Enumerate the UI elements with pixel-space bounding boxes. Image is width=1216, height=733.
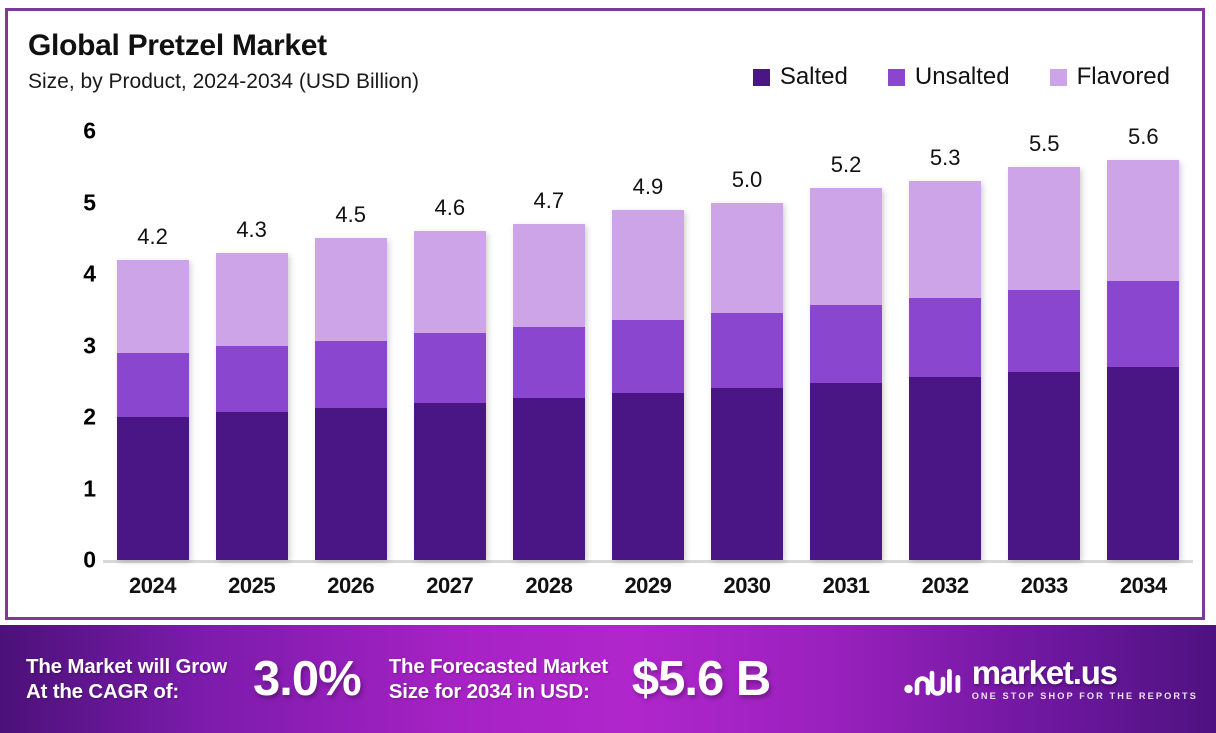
bar-total-label: 5.2: [802, 152, 890, 178]
bar-group[interactable]: 5.6: [1099, 131, 1187, 560]
bar-total-label: 5.6: [1099, 124, 1187, 150]
cagr-value: 3.0%: [253, 655, 361, 704]
bar-stack[interactable]: [1008, 167, 1080, 560]
bar-segment-unsalted[interactable]: [117, 353, 189, 417]
x-axis-tick-label: 2031: [802, 573, 890, 599]
bar-segment-unsalted[interactable]: [1107, 281, 1179, 367]
summary-banner: The Market will Grow At the CAGR of: 3.0…: [0, 625, 1216, 733]
bar-segment-salted[interactable]: [711, 388, 783, 560]
x-axis-tick-label: 2030: [703, 573, 791, 599]
bar-group[interactable]: 5.5: [1000, 131, 1088, 560]
bar-group[interactable]: 4.6: [406, 131, 494, 560]
bar-segment-flavored[interactable]: [117, 260, 189, 354]
x-axis-tick-label: 2026: [307, 573, 395, 599]
market-us-logo-icon: [904, 659, 962, 699]
y-axis-tick-label: 1: [36, 475, 96, 502]
x-axis-tick-label: 2029: [604, 573, 692, 599]
x-axis-tick-label: 2033: [1000, 573, 1088, 599]
bar-segment-unsalted[interactable]: [612, 320, 684, 393]
bar-stack[interactable]: [117, 260, 189, 560]
bar-segment-flavored[interactable]: [612, 210, 684, 320]
bar-group[interactable]: 5.3: [901, 131, 989, 560]
bar-total-label: 4.2: [109, 224, 197, 250]
forecast-caption-line2: Size for 2034 in USD:: [389, 680, 590, 703]
plot-area: 0123456 4.24.34.54.64.74.95.05.25.35.55.…: [8, 11, 1208, 623]
bar-segment-flavored[interactable]: [810, 188, 882, 305]
bar-stack[interactable]: [810, 188, 882, 560]
bar-total-label: 5.0: [703, 167, 791, 193]
chart-infographic: Global Pretzel Market Size, by Product, …: [0, 0, 1216, 733]
bar-stack[interactable]: [414, 231, 486, 560]
bar-stack[interactable]: [216, 253, 288, 560]
bar-stack[interactable]: [1107, 160, 1179, 560]
bar-segment-unsalted[interactable]: [315, 341, 387, 408]
bar-segment-flavored[interactable]: [315, 238, 387, 340]
bar-segment-flavored[interactable]: [1107, 160, 1179, 282]
bar-segment-salted[interactable]: [117, 417, 189, 560]
bar-group[interactable]: 4.9: [604, 131, 692, 560]
bar-total-label: 5.3: [901, 145, 989, 171]
y-axis: 0123456: [18, 11, 96, 623]
bar-segment-salted[interactable]: [1107, 367, 1179, 560]
bar-segment-unsalted[interactable]: [1008, 290, 1080, 372]
bar-group[interactable]: 4.7: [505, 131, 593, 560]
bar-stack[interactable]: [711, 203, 783, 560]
bar-segment-salted[interactable]: [1008, 372, 1080, 560]
bar-segment-salted[interactable]: [216, 412, 288, 560]
y-axis-tick-label: 6: [36, 118, 96, 145]
chart-card: Global Pretzel Market Size, by Product, …: [5, 8, 1205, 620]
bar-stack[interactable]: [315, 238, 387, 560]
forecast-caption-line1: The Forecasted Market: [389, 655, 608, 678]
bar-group[interactable]: 5.0: [703, 131, 791, 560]
cagr-caption-line2: At the CAGR of:: [26, 680, 179, 703]
bar-segment-flavored[interactable]: [1008, 167, 1080, 290]
x-axis-tick-label: 2028: [505, 573, 593, 599]
x-axis-tick-label: 2024: [109, 573, 197, 599]
bar-segment-salted[interactable]: [909, 377, 981, 560]
market-us-logo[interactable]: market.us ONE STOP SHOP FOR THE REPORTS: [904, 656, 1198, 701]
bar-group[interactable]: 4.3: [208, 131, 296, 560]
y-axis-tick-label: 4: [36, 261, 96, 288]
cagr-caption-line1: The Market will Grow: [26, 655, 227, 678]
y-axis-tick-label: 2: [36, 404, 96, 431]
bar-stack[interactable]: [909, 181, 981, 560]
bar-segment-flavored[interactable]: [513, 224, 585, 327]
bar-total-label: 5.5: [1000, 131, 1088, 157]
bar-group[interactable]: 4.2: [109, 131, 197, 560]
bar-series-container: 4.24.34.54.64.74.95.05.25.35.55.6: [103, 131, 1193, 560]
bar-segment-salted[interactable]: [612, 393, 684, 560]
bar-segment-salted[interactable]: [513, 398, 585, 560]
forecast-caption: The Forecasted Market Size for 2034 in U…: [389, 654, 608, 704]
logo-text-block: market.us ONE STOP SHOP FOR THE REPORTS: [972, 656, 1198, 701]
bar-segment-unsalted[interactable]: [711, 313, 783, 387]
bar-segment-unsalted[interactable]: [810, 305, 882, 382]
y-axis-tick-label: 3: [36, 332, 96, 359]
x-axis-tick-label: 2034: [1099, 573, 1187, 599]
bar-stack[interactable]: [612, 210, 684, 560]
bar-group[interactable]: 4.5: [307, 131, 395, 560]
y-axis-tick-label: 5: [36, 189, 96, 216]
bar-total-label: 4.9: [604, 174, 692, 200]
bar-segment-unsalted[interactable]: [909, 298, 981, 377]
bar-total-label: 4.7: [505, 188, 593, 214]
x-axis-tick-label: 2032: [901, 573, 989, 599]
x-axis: 2024202520262027202820292030203120322033…: [103, 573, 1193, 599]
forecast-value: $5.6 B: [632, 655, 770, 704]
x-axis-tick-label: 2025: [208, 573, 296, 599]
bar-total-label: 4.3: [208, 217, 296, 243]
bar-segment-salted[interactable]: [414, 403, 486, 560]
bar-segment-unsalted[interactable]: [216, 346, 288, 412]
bar-total-label: 4.6: [406, 195, 494, 221]
bar-segment-flavored[interactable]: [711, 203, 783, 314]
bar-segment-salted[interactable]: [315, 408, 387, 560]
x-axis-tick-label: 2027: [406, 573, 494, 599]
bar-stack[interactable]: [513, 224, 585, 560]
bar-segment-flavored[interactable]: [414, 231, 486, 333]
bar-segment-salted[interactable]: [810, 383, 882, 560]
y-axis-tick-label: 0: [36, 547, 96, 574]
bar-segment-flavored[interactable]: [216, 253, 288, 346]
bar-segment-flavored[interactable]: [909, 181, 981, 298]
bar-total-label: 4.5: [307, 202, 395, 228]
logo-wordmark: market.us: [972, 656, 1198, 689]
bar-group[interactable]: 5.2: [802, 131, 890, 560]
logo-tagline: ONE STOP SHOP FOR THE REPORTS: [972, 692, 1198, 701]
bar-segment-unsalted[interactable]: [513, 327, 585, 399]
bar-segment-unsalted[interactable]: [414, 333, 486, 402]
x-axis-baseline: [103, 560, 1193, 563]
cagr-caption: The Market will Grow At the CAGR of:: [26, 654, 227, 704]
